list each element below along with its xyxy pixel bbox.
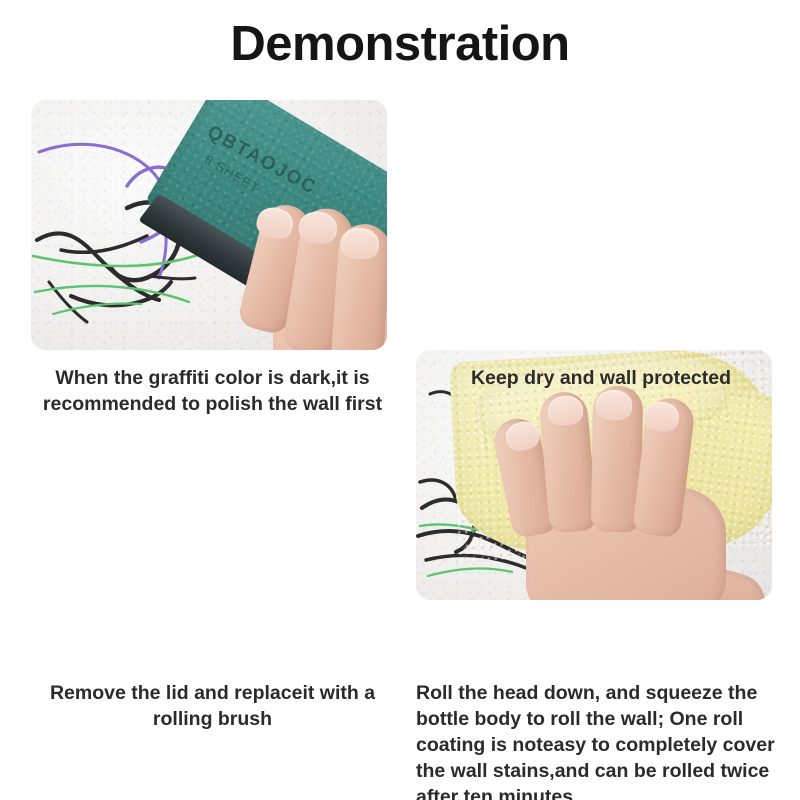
hand-wiping-wall (498, 376, 758, 600)
step-2-caption: Keep dry and wall protected (416, 365, 786, 391)
step-4-caption: Roll the head down, and squeeze the bott… (416, 680, 788, 800)
demonstration-page: Demonstration QBTAOJOC 8 SHEET (0, 0, 800, 800)
page-title: Demonstration (0, 14, 800, 74)
fingernail (596, 390, 633, 421)
hand-holding-sanding-block (177, 204, 387, 350)
photo-sanding-graffiti-wall: QBTAOJOC 8 SHEET (31, 100, 387, 350)
step-3-caption: Remove the lid and replaceit with a roll… (25, 680, 400, 732)
step-1-caption: When the graffiti color is dark,it is re… (25, 365, 400, 417)
